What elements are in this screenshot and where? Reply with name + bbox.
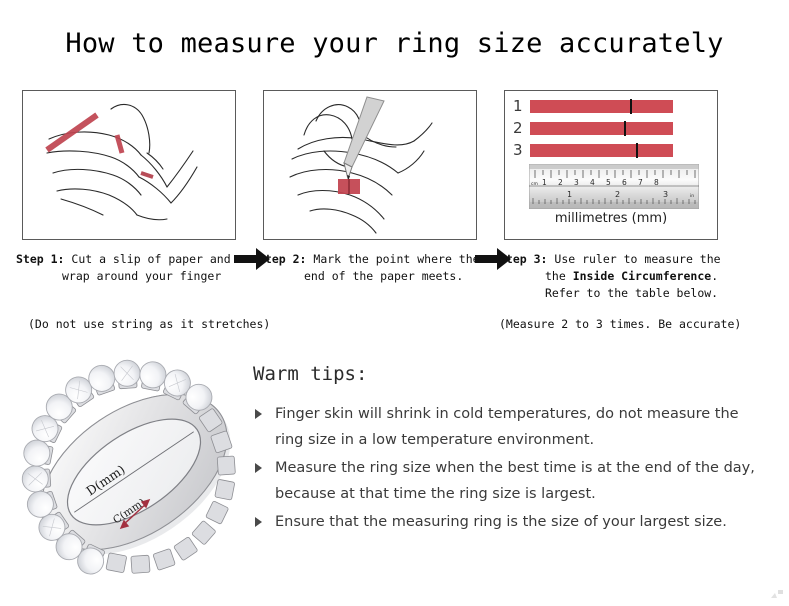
strip-bar [530,144,673,157]
step-3-note: (Measure 2 to 3 times. Be accurate) [499,316,749,332]
svg-text:1: 1 [542,178,547,187]
hand-with-paper-slip-icon [23,91,235,239]
step-3-line2-suffix: . [711,269,718,283]
step-3-caption: Step 3: Use ruler to measure the the Ins… [499,251,739,302]
eternity-ring-icon: D(mm) C(mm) [18,352,250,590]
ruler-unit-label: millimetres (mm) [505,211,717,226]
svg-text:in: in [690,193,694,199]
strip-row: 1 [513,97,711,116]
strip-bar [530,100,673,113]
hand-marking-paper-icon [264,91,476,239]
step-1-illustration-panel [22,90,236,240]
step-1-line2: wrap around your finger [16,268,256,285]
step-2-lead: Step 2: [258,252,306,266]
warm-tip-text: Measure the ring size when the best time… [275,460,755,502]
strip-mark [624,121,626,136]
strip-mark [636,143,638,158]
strip-number: 2 [513,121,528,136]
measured-strips-group: 1 2 3 [513,97,711,163]
svg-text:4: 4 [590,178,595,187]
step-3-lead: Step 3: [499,252,547,266]
step-1-lead: Step 1: [16,252,64,266]
step-3-line3: Refer to the table below. [499,285,739,302]
svg-text:2: 2 [615,190,620,199]
strip-row: 3 [513,141,711,160]
step-3-inside-circumference-emphasis: Inside Circumference [573,269,711,283]
strip-row: 2 [513,119,711,138]
svg-text:3: 3 [663,190,668,199]
step-2-line2: end of the paper meets. [258,268,498,285]
step-1-note: (Do not use string as it stretches) [28,316,278,332]
ruler-icon: 123 456 78 cm 123 in [529,164,699,209]
strip-mark [630,99,632,114]
warm-tip-text: Finger skin will shrink in cold temperat… [275,406,739,448]
svg-text:2: 2 [558,178,563,187]
warm-tips-heading: Warm tips: [253,363,763,385]
warm-tips-section: Warm tips: Finger skin will shrink in co… [253,363,763,537]
svg-text:3: 3 [574,178,579,187]
page-title: How to measure your ring size accurately [0,28,789,59]
ring-diagram: D(mm) C(mm) [18,352,250,590]
svg-text:8: 8 [654,178,659,187]
strip-number: 3 [513,143,528,158]
step-2-caption: Step 2: Mark the point where the end of … [258,251,498,285]
strip-bar [530,122,673,135]
bullet-triangle-icon [255,517,262,527]
step-3-line2-prefix: the [545,269,573,283]
svg-text:1: 1 [567,190,572,199]
step-2-line1: Mark the point where the [306,252,479,266]
step-2-illustration-panel [263,90,477,240]
warm-tip-item: Finger skin will shrink in cold temperat… [253,401,763,453]
corner-watermark-icon [771,590,783,600]
svg-text:7: 7 [638,178,643,187]
step-1-caption: Step 1: Cut a slip of paper and wrap aro… [16,251,256,285]
step-1-line1: Cut a slip of paper and [64,252,230,266]
step-3-illustration-panel: 1 2 3 [504,90,718,240]
warm-tip-text: Ensure that the measuring ring is the si… [275,514,727,530]
svg-text:5: 5 [606,178,611,187]
svg-text:6: 6 [622,178,627,187]
bullet-triangle-icon [255,409,262,419]
svg-text:cm: cm [531,182,538,187]
bullet-triangle-icon [255,463,262,473]
warm-tip-item: Ensure that the measuring ring is the si… [253,509,763,535]
warm-tip-item: Measure the ring size when the best time… [253,455,763,507]
strip-number: 1 [513,99,528,114]
step-3-line1: Use ruler to measure the [547,252,720,266]
steps-illustration-row: 1 2 3 [0,90,789,240]
